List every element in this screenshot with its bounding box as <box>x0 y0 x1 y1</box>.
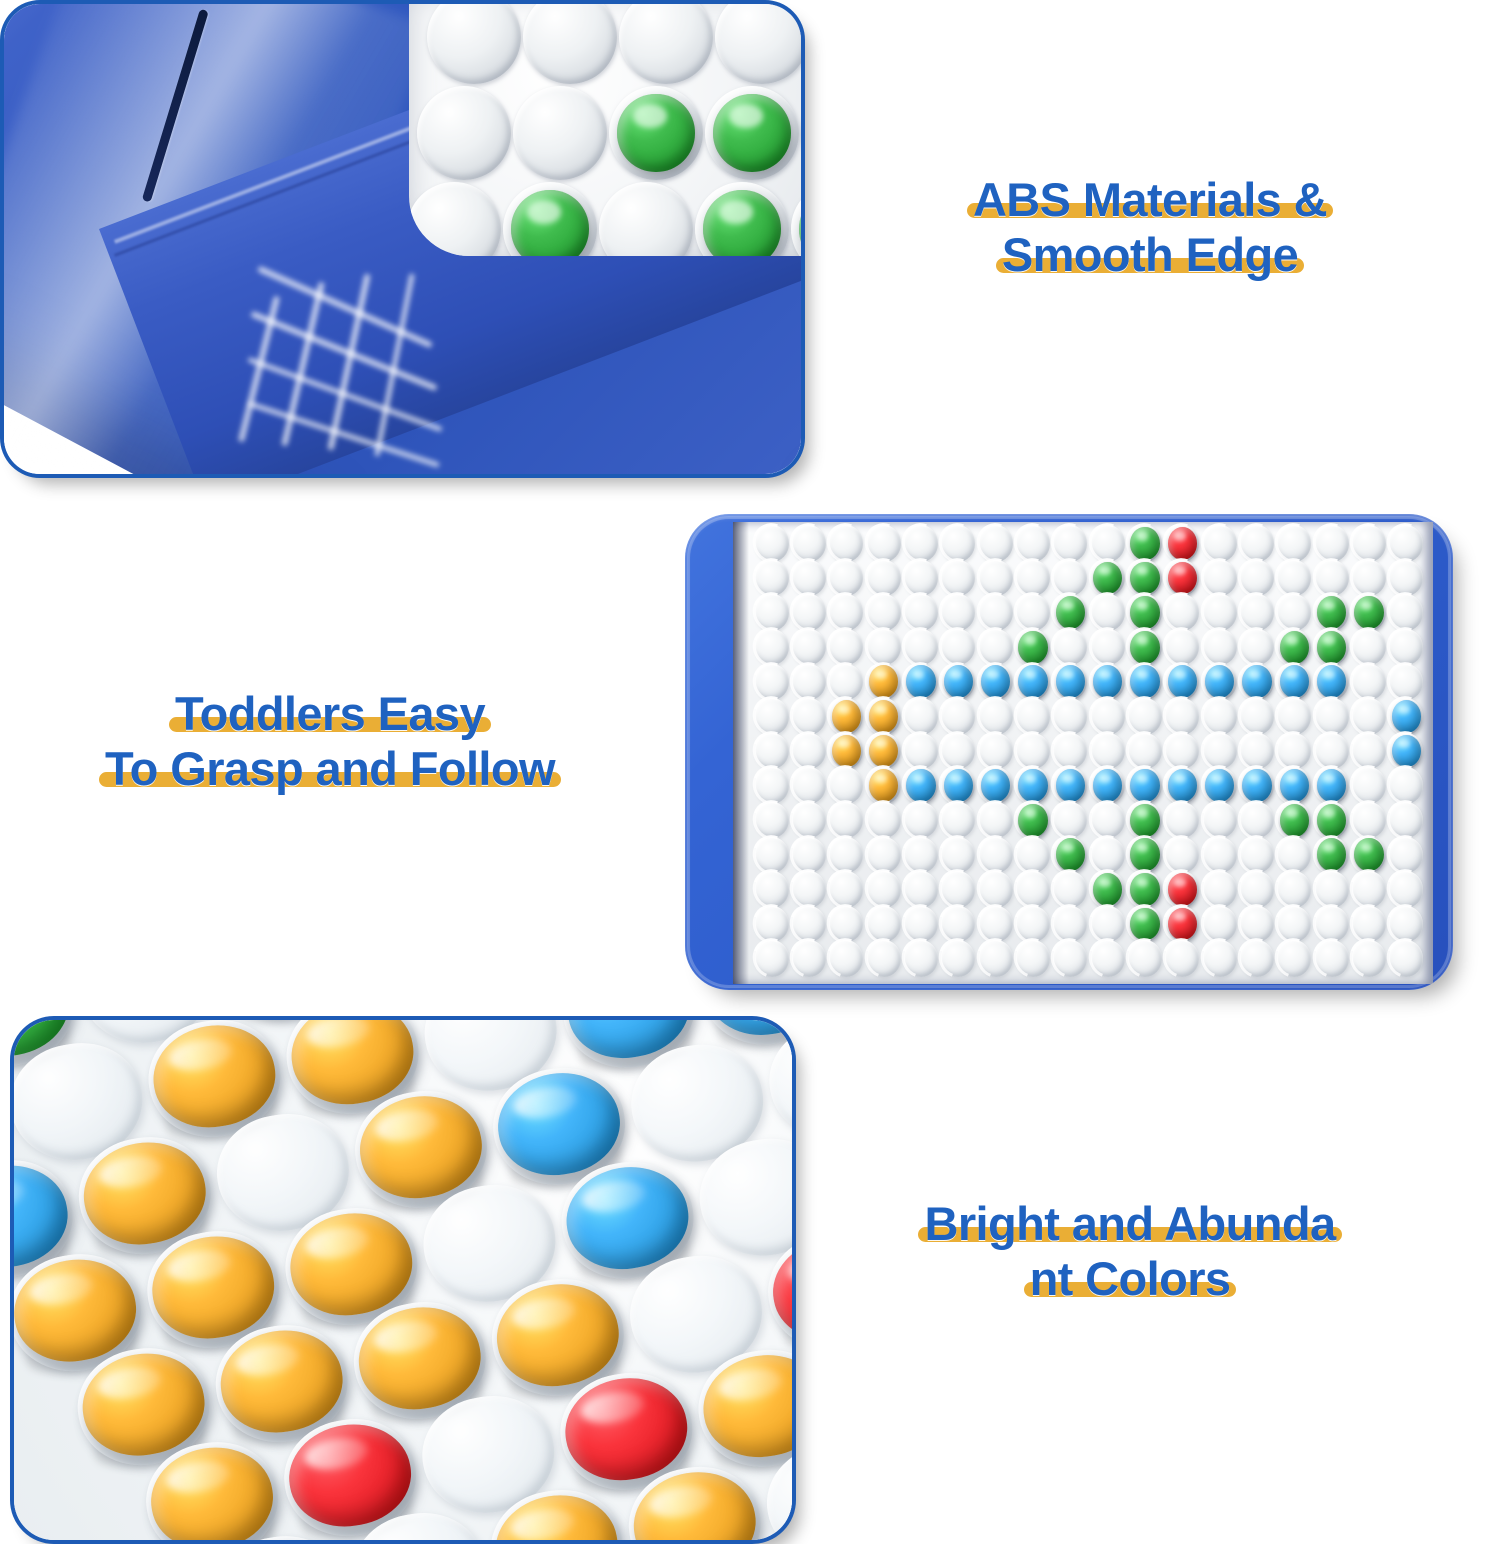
peg-hole <box>1240 802 1274 838</box>
peg-hole <box>1389 767 1423 803</box>
peg-hole <box>792 594 826 630</box>
peg-hole <box>829 560 863 596</box>
peg-hole <box>1016 733 1050 769</box>
peg-hole <box>792 698 826 734</box>
peg-hole <box>1315 525 1349 561</box>
peg-hole <box>1053 733 1087 769</box>
peg-hole <box>904 698 938 734</box>
macro-scene <box>14 1020 792 1540</box>
peg-hole <box>1091 940 1125 976</box>
peg-hole <box>427 0 521 84</box>
peg-hole <box>867 837 901 873</box>
peg-hole <box>1053 871 1087 907</box>
peg-hole <box>829 940 863 976</box>
peg-hole <box>1203 802 1237 838</box>
peg-hole <box>513 86 607 180</box>
pattern-peg <box>1056 769 1085 802</box>
peg-hole <box>829 802 863 838</box>
peg-hole <box>523 0 617 84</box>
panel-full-pegboard <box>685 514 1453 990</box>
pattern-peg <box>1056 596 1085 629</box>
peg-hole <box>1240 733 1274 769</box>
peg-hole <box>1165 837 1199 873</box>
peg-hole <box>979 733 1013 769</box>
peg-hole <box>599 182 693 256</box>
peg-hole <box>904 802 938 838</box>
pattern-peg <box>1354 838 1383 871</box>
pattern-peg <box>1168 562 1197 595</box>
peg-hole <box>1053 560 1087 596</box>
peg-hole <box>1165 629 1199 665</box>
peg-hole <box>979 629 1013 665</box>
peg-hole <box>1091 525 1125 561</box>
peg-hole <box>1389 940 1423 976</box>
peg-hole <box>1389 664 1423 700</box>
peg-hole <box>1165 594 1199 630</box>
pattern-peg <box>1242 769 1271 802</box>
peg-hole <box>1352 525 1386 561</box>
peg-hole <box>1389 560 1423 596</box>
peg-hole <box>1203 871 1237 907</box>
peg-hole <box>1277 940 1311 976</box>
peg-hole <box>1128 733 1162 769</box>
pattern-peg <box>1280 804 1309 837</box>
peg-hole <box>792 871 826 907</box>
peg-hole <box>1016 837 1050 873</box>
peg-hole <box>1240 629 1274 665</box>
pattern-peg <box>1168 665 1197 698</box>
peg-hole <box>1389 837 1423 873</box>
plate-inner-shadow <box>733 522 749 984</box>
caption-line: Toddlers Easy <box>175 687 485 741</box>
peg-hole <box>941 525 975 561</box>
peg-hole-rim <box>1381 932 1433 984</box>
peg-hole <box>829 906 863 942</box>
peg-hole <box>941 940 975 976</box>
pattern-peg <box>1392 735 1421 768</box>
peg-hole <box>1203 837 1237 873</box>
peg-hole <box>1389 594 1423 630</box>
pattern-peg <box>944 769 973 802</box>
peg-hole <box>1053 940 1087 976</box>
pattern-peg <box>1168 769 1197 802</box>
peg-hole <box>829 871 863 907</box>
peg-hole <box>1240 940 1274 976</box>
peg-hole <box>1240 560 1274 596</box>
peg-hole <box>1016 940 1050 976</box>
peg-hole <box>829 525 863 561</box>
peg-hole <box>1165 733 1199 769</box>
pattern-peg <box>1018 631 1047 664</box>
green-peg <box>713 94 790 171</box>
caption-text: Toddlers Easy <box>175 687 485 740</box>
peg-hole <box>1053 698 1087 734</box>
peg-hole <box>979 594 1013 630</box>
peg-hole <box>941 698 975 734</box>
corner-scene <box>4 4 801 474</box>
peg-hole <box>1315 871 1349 907</box>
pattern-peg <box>1056 665 1085 698</box>
infographic-canvas: ABS Materials & Smooth Edge Toddlers Eas… <box>0 0 1494 1500</box>
peg-hole <box>867 940 901 976</box>
peg-hole <box>1277 525 1311 561</box>
pattern-peg <box>1130 838 1159 871</box>
peg-hole <box>1165 698 1199 734</box>
green-peg <box>703 190 780 256</box>
peg-hole <box>1165 940 1199 976</box>
pattern-peg <box>906 769 935 802</box>
peg-hole <box>1352 560 1386 596</box>
pattern-peg <box>1130 908 1159 941</box>
pattern-peg <box>1130 631 1159 664</box>
peg-hole <box>1016 525 1050 561</box>
peg-hole <box>1389 802 1423 838</box>
peg-hole <box>1277 837 1311 873</box>
peg-hole <box>755 664 789 700</box>
pattern-peg <box>1168 527 1197 560</box>
peg-hole <box>904 560 938 596</box>
peg-hole <box>1389 629 1423 665</box>
peg-hole <box>1016 594 1050 630</box>
caption-text: nt Colors <box>1030 1252 1231 1305</box>
peg-hole <box>1240 837 1274 873</box>
peg-hole <box>715 0 805 84</box>
peg-hole <box>1053 802 1087 838</box>
peg-hole <box>941 629 975 665</box>
peg-hole <box>829 664 863 700</box>
peg-hole <box>1203 629 1237 665</box>
peg-hole <box>829 594 863 630</box>
caption-text: To Grasp and Follow <box>105 742 555 795</box>
peg-hole <box>1091 629 1125 665</box>
peg-hole <box>755 767 789 803</box>
caption-line: ABS Materials & <box>973 173 1327 227</box>
pattern-peg <box>1317 804 1346 837</box>
peg-hole <box>979 837 1013 873</box>
pattern-peg <box>1130 769 1159 802</box>
pattern-peg <box>1280 665 1309 698</box>
peg-hole <box>755 871 789 907</box>
peg-hole <box>1352 698 1386 734</box>
pattern-peg <box>1317 631 1346 664</box>
peg-hole <box>792 767 826 803</box>
pattern-peg <box>1168 873 1197 906</box>
peg-hole <box>1203 733 1237 769</box>
peg-hole <box>1240 871 1274 907</box>
peg-hole <box>792 940 826 976</box>
pattern-peg <box>1130 527 1159 560</box>
caption-line: Smooth Edge <box>1002 228 1298 282</box>
green-peg <box>511 190 588 256</box>
peg-hole <box>979 698 1013 734</box>
caption-line: nt Colors <box>1030 1252 1231 1306</box>
peg-hole <box>867 594 901 630</box>
caption-toddlers-easy: Toddlers Easy To Grasp and Follow <box>20 686 640 796</box>
peg-hole <box>829 767 863 803</box>
peg-hole <box>792 733 826 769</box>
pattern-peg <box>906 665 935 698</box>
peg-hole <box>1053 525 1087 561</box>
pegboard-plate <box>733 522 1433 984</box>
pattern-peg <box>1242 665 1271 698</box>
pattern-peg <box>832 735 861 768</box>
peg-hole <box>904 629 938 665</box>
pattern-peg <box>1392 700 1421 733</box>
peg-hole <box>1091 733 1125 769</box>
peg-hole <box>1240 698 1274 734</box>
peg-hole <box>941 560 975 596</box>
peg-hole <box>1352 802 1386 838</box>
peg-hole <box>979 871 1013 907</box>
peg-hole <box>1203 560 1237 596</box>
peg-hole <box>1091 837 1125 873</box>
peg-hole <box>1315 560 1349 596</box>
peg-hole <box>1315 733 1349 769</box>
panel-corner-closeup <box>0 0 805 478</box>
pattern-peg <box>1130 665 1159 698</box>
peg-hole <box>1203 698 1237 734</box>
peg-hole <box>1240 525 1274 561</box>
peg-hole <box>1277 733 1311 769</box>
peg-hole <box>829 837 863 873</box>
peg-hole <box>755 802 789 838</box>
peg-hole <box>904 733 938 769</box>
peg-hole <box>1352 940 1386 976</box>
peg-hole <box>1389 871 1423 907</box>
peg-hole <box>979 560 1013 596</box>
peg-hole <box>755 940 789 976</box>
caption-text: Smooth Edge <box>1002 228 1298 281</box>
peg-hole <box>979 940 1013 976</box>
peg-hole <box>941 802 975 838</box>
peg-hole <box>941 837 975 873</box>
caption-abs-materials: ABS Materials & Smooth Edge <box>880 172 1420 282</box>
peg-hole <box>792 664 826 700</box>
peg-hole <box>829 629 863 665</box>
peg-hole <box>1352 767 1386 803</box>
caption-text: Bright and Abunda <box>924 1197 1335 1250</box>
peg-hole <box>755 733 789 769</box>
peg-hole <box>791 182 805 256</box>
peg-hole <box>941 594 975 630</box>
peg-hole <box>1053 906 1087 942</box>
pattern-peg <box>1018 804 1047 837</box>
peg-hole <box>867 560 901 596</box>
peg-hole <box>409 182 501 256</box>
peg-hole <box>792 629 826 665</box>
peg-hole <box>1389 525 1423 561</box>
peg-hole <box>1352 733 1386 769</box>
peg-hole <box>755 837 789 873</box>
peg-hole <box>1016 560 1050 596</box>
peg-hole <box>1352 629 1386 665</box>
peg-hole <box>867 525 901 561</box>
peg-hole <box>979 525 1013 561</box>
peg-hole <box>619 0 713 84</box>
pattern-peg <box>1130 596 1159 629</box>
peg-hole <box>1277 594 1311 630</box>
peg-hole <box>755 594 789 630</box>
peg-hole <box>1203 594 1237 630</box>
caption-text: ABS Materials & <box>973 173 1327 226</box>
peg-hole <box>904 837 938 873</box>
pattern-peg <box>1130 804 1159 837</box>
peg-hole <box>904 940 938 976</box>
pattern-peg <box>1354 596 1383 629</box>
peg-hole <box>755 560 789 596</box>
peg-hole <box>904 871 938 907</box>
pattern-peg <box>1280 631 1309 664</box>
pattern-peg <box>1317 596 1346 629</box>
caption-line: To Grasp and Follow <box>105 742 555 796</box>
peg-hole <box>1389 906 1423 942</box>
peg-hole <box>979 802 1013 838</box>
peg-hole <box>1277 906 1311 942</box>
pattern-peg <box>869 700 898 733</box>
pattern-peg <box>1130 873 1159 906</box>
peg-hole <box>867 802 901 838</box>
peg-hole <box>1315 940 1349 976</box>
peg-hole <box>1016 871 1050 907</box>
peg-hole <box>1128 698 1162 734</box>
peg-hole <box>801 86 805 180</box>
corner-peg-plate <box>409 0 805 256</box>
peg-hole <box>1016 698 1050 734</box>
peg-hole <box>1128 940 1162 976</box>
pattern-peg <box>1093 873 1122 906</box>
peg-hole <box>904 594 938 630</box>
peg-hole <box>904 525 938 561</box>
peg-hole <box>755 698 789 734</box>
peg-hole <box>1277 698 1311 734</box>
peg-hole <box>792 525 826 561</box>
peg-hole <box>941 733 975 769</box>
peg-hole <box>755 525 789 561</box>
peg-hole <box>1091 802 1125 838</box>
peg-hole <box>1203 525 1237 561</box>
peg-hole <box>1053 629 1087 665</box>
peg-hole <box>1352 664 1386 700</box>
peg-hole <box>1277 871 1311 907</box>
pattern-peg <box>1018 769 1047 802</box>
panel-peg-macro <box>10 1016 796 1544</box>
peg-hole <box>867 871 901 907</box>
pattern-peg <box>1056 838 1085 871</box>
macro-peg-grid <box>14 1020 792 1540</box>
peg-hole <box>1352 871 1386 907</box>
peg-hole <box>1091 698 1125 734</box>
caption-bright-colors: Bright and Abunda nt Colors <box>820 1196 1440 1306</box>
pattern-peg <box>832 700 861 733</box>
caption-line: Bright and Abunda <box>924 1197 1335 1251</box>
pattern-peg <box>1168 908 1197 941</box>
pattern-peg <box>1130 562 1159 595</box>
green-peg <box>617 94 694 171</box>
pattern-peg <box>944 665 973 698</box>
peg-hole <box>1315 698 1349 734</box>
peg-hole <box>1203 940 1237 976</box>
peg-hole <box>941 871 975 907</box>
peg-hole <box>792 802 826 838</box>
peg-hole <box>792 837 826 873</box>
pattern-peg <box>1018 665 1047 698</box>
peg-hole <box>1165 802 1199 838</box>
peg-hole <box>792 560 826 596</box>
peg-hole <box>941 906 975 942</box>
pattern-peg <box>1280 769 1309 802</box>
peg-hole <box>1277 560 1311 596</box>
peg-hole <box>867 629 901 665</box>
peg-hole <box>755 629 789 665</box>
peg-hole <box>1240 594 1274 630</box>
peg-hole <box>417 86 511 180</box>
peg-hole <box>1091 594 1125 630</box>
